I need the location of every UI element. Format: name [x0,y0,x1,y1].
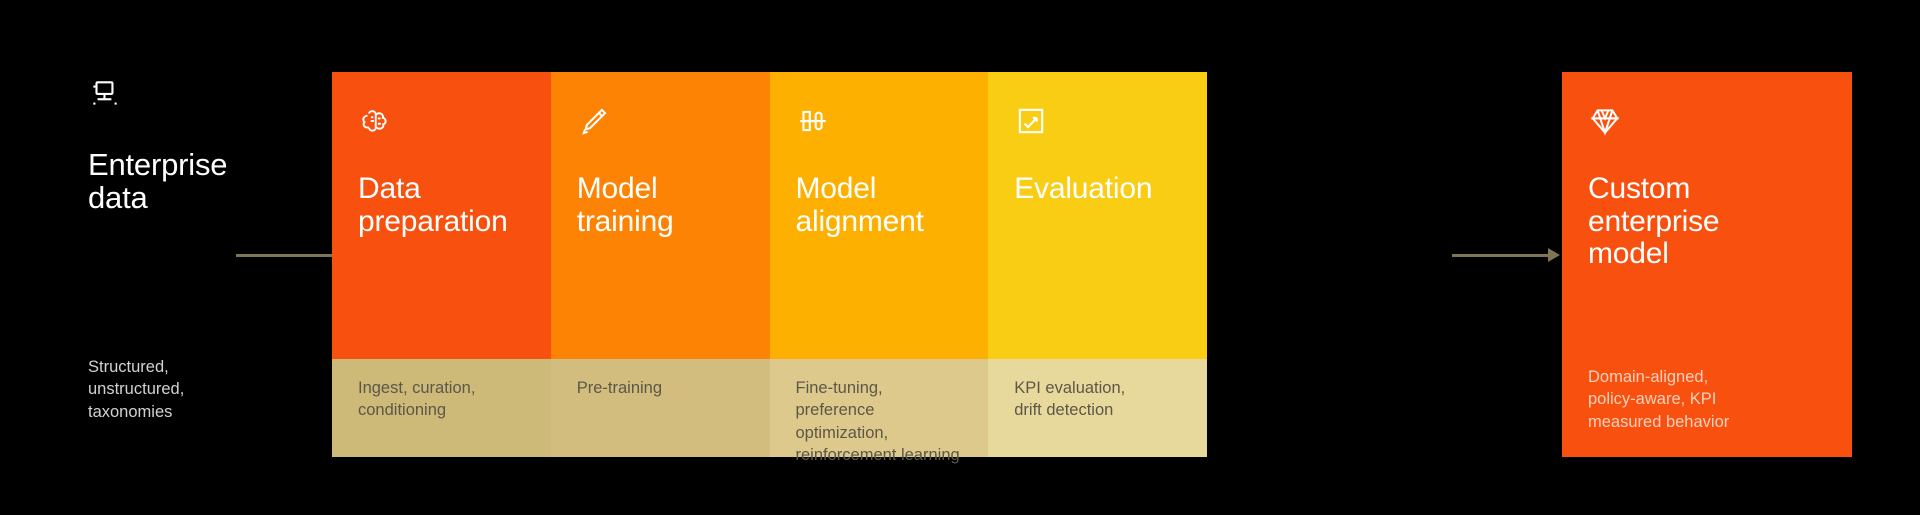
stage-body: Evaluation [988,72,1207,359]
arrow-input-to-pipeline [236,248,344,262]
stage-body: Data preparation [332,72,551,359]
arrow-pipeline-to-output [1452,248,1560,262]
stage-evaluation[interactable]: Evaluation KPI evaluation, drift detecti… [988,72,1207,457]
stage-body: Model training [551,72,770,359]
diamond-gem-icon [1588,104,1622,138]
align-distribute-icon [796,104,830,138]
stage-title: Model training [577,173,744,238]
custom-enterprise-model-panel[interactable]: Custom enterprise model Domain-aligned, … [1562,72,1852,457]
pencil-icon [577,104,611,138]
pipeline-stages: Data preparation Ingest, curation, condi… [332,72,1207,457]
stage-model-training[interactable]: Model training Pre-training [551,72,770,457]
stage-title: Model alignment [796,173,963,238]
stage-data-preparation[interactable]: Data preparation Ingest, curation, condi… [332,72,551,457]
input-caption: Structured, unstructured, taxonomies [88,356,184,423]
enterprise-data-block: Enterprise data Structured, unstructured… [88,78,318,458]
stage-body: Model alignment [770,72,989,359]
monitor-device-icon [88,78,122,112]
stage-caption: Ingest, curation, conditioning [332,359,551,457]
arrow-shaft [1452,254,1549,257]
stage-title: Data preparation [358,173,525,238]
arrow-shaft [236,254,333,257]
brain-icon [358,104,392,138]
chart-check-square-icon [1014,104,1048,138]
stage-caption: Fine-tuning, preference optimization, re… [770,359,989,457]
stage-caption: KPI evaluation, drift detection [988,359,1207,457]
input-title: Enterprise data [88,148,318,215]
arrow-head-icon [1548,248,1560,262]
stage-caption: Pre-training [551,359,770,457]
output-title: Custom enterprise model [1588,173,1826,271]
diagram-canvas: Enterprise data Structured, unstructured… [0,0,1920,515]
output-caption: Domain-aligned, policy-aware, KPI measur… [1588,366,1729,433]
stage-model-alignment[interactable]: Model alignment Fine-tuning, preference … [770,72,989,457]
stage-title: Evaluation [1014,173,1181,206]
